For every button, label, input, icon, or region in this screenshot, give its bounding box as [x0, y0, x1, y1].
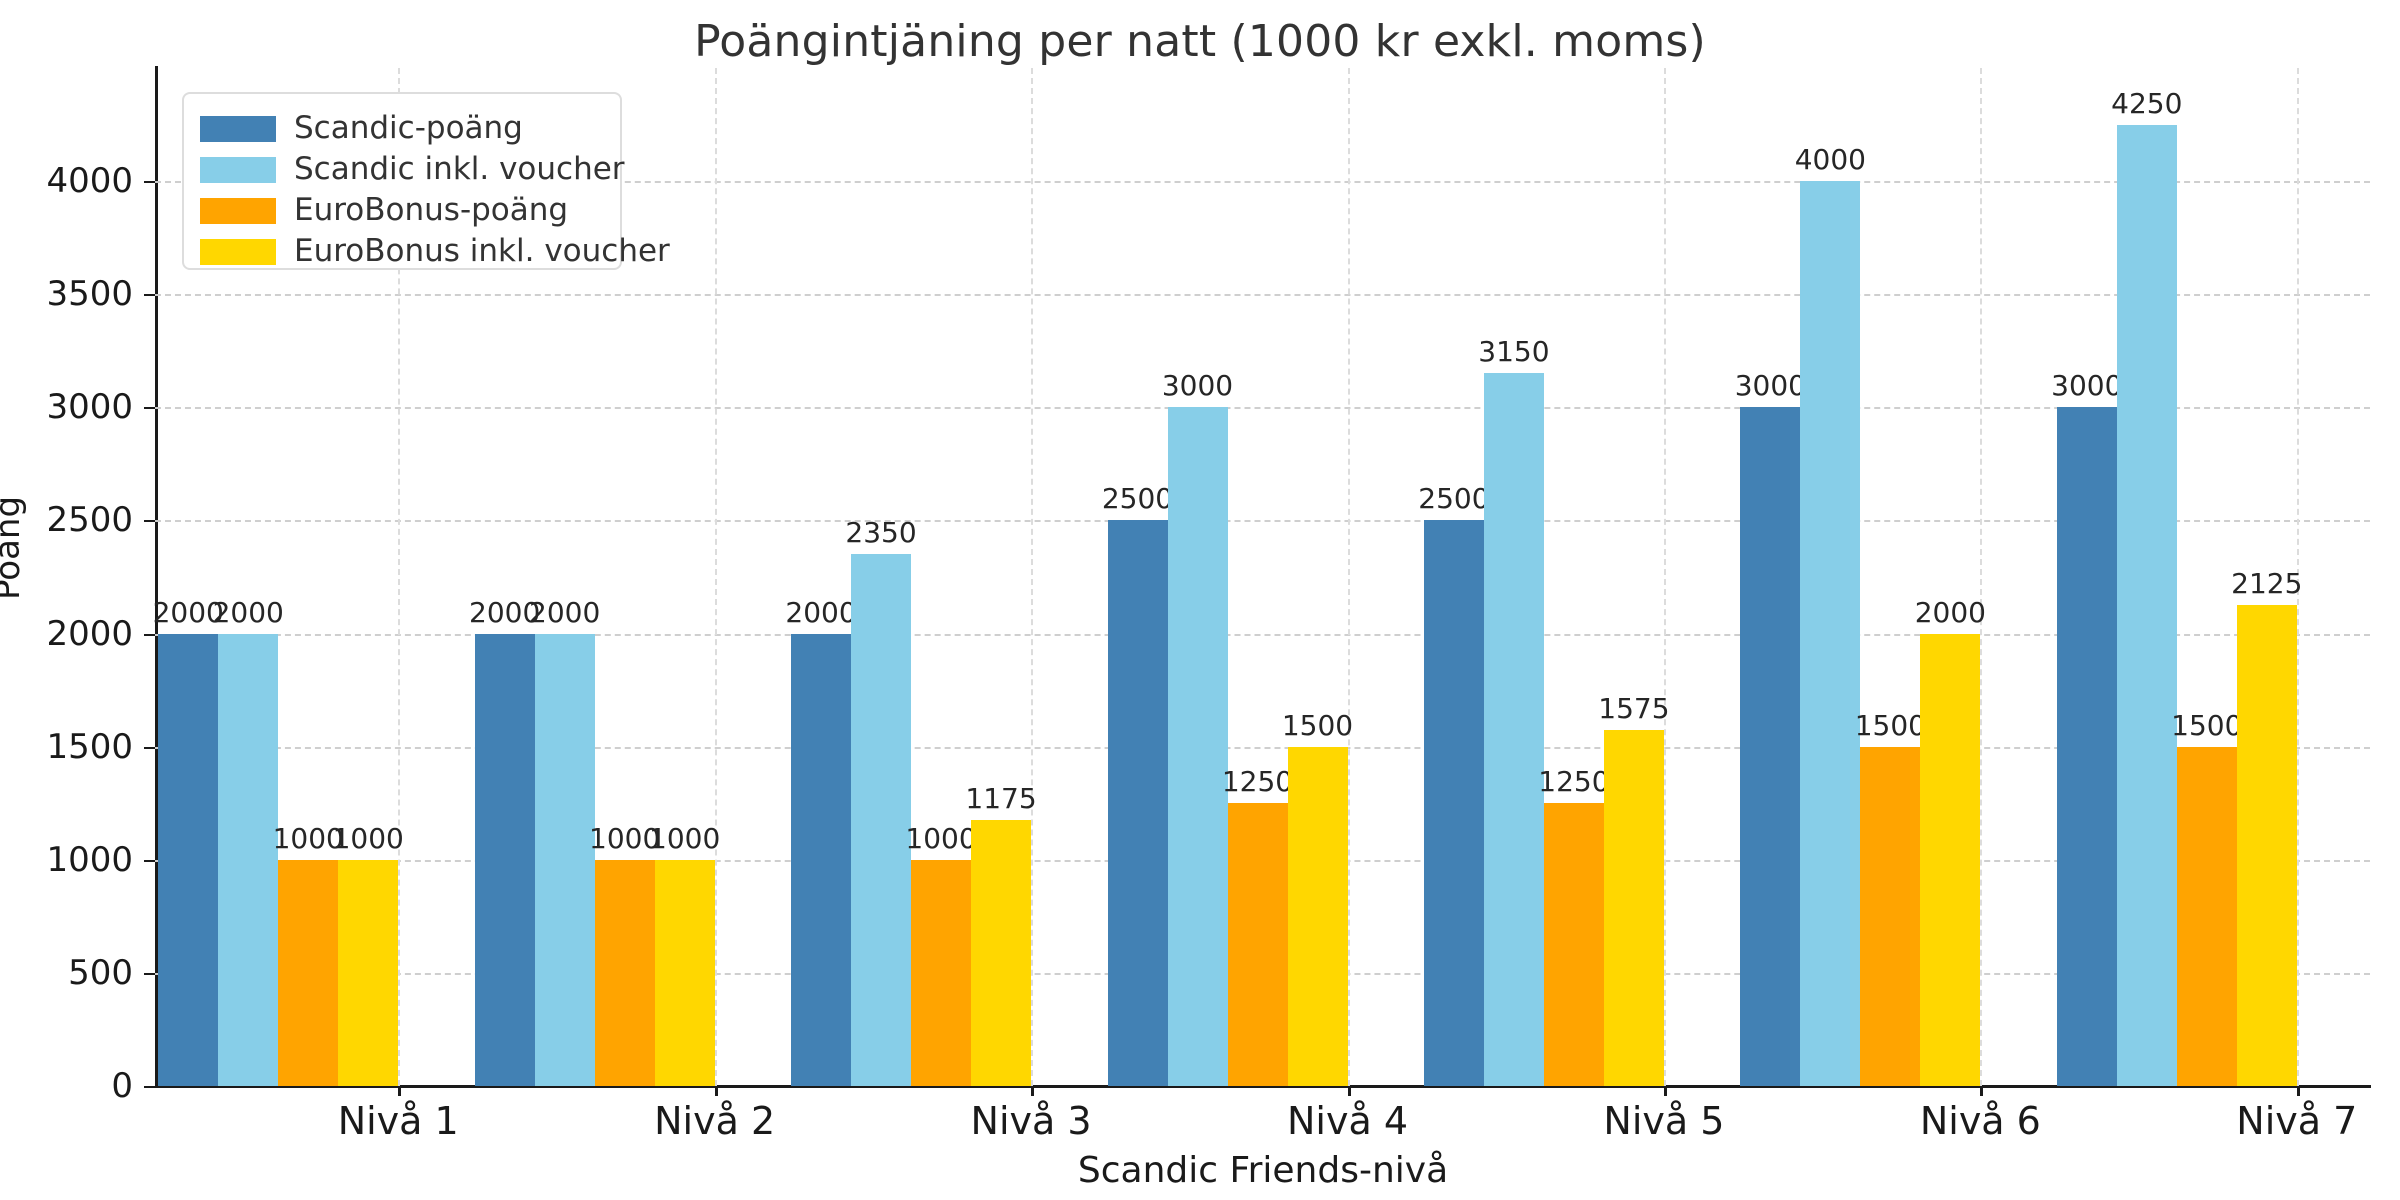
y-tick-label: 2000 [46, 614, 133, 654]
bar-value-label: 1500 [1282, 709, 1353, 742]
bar-value-label: 2000 [1915, 596, 1986, 629]
bar-value-label: 1500 [1855, 709, 1926, 742]
x-tick-label: Nivå 2 [654, 1099, 775, 1143]
bar[interactable] [1424, 520, 1484, 1086]
y-tick-label: 3500 [46, 274, 133, 314]
bar-value-label: 1250 [1222, 765, 1293, 798]
chart-legend: Scandic-poängScandic inkl. voucherEuroBo… [182, 92, 622, 270]
x-gridline [715, 68, 717, 1086]
y-tick-mark [144, 1086, 155, 1088]
y-tick-label: 4000 [46, 161, 133, 201]
bar[interactable] [1860, 747, 1920, 1086]
x-gridline [1031, 68, 1033, 1086]
bar[interactable] [2057, 407, 2117, 1086]
chart-figure: Poängintjäning per natt (1000 kr exkl. m… [0, 0, 2400, 1200]
legend-item[interactable]: EuroBonus-poäng [200, 190, 604, 231]
x-tick-mark [1980, 1086, 1983, 1096]
bar[interactable] [535, 634, 595, 1086]
legend-swatch-icon [200, 239, 276, 265]
x-tick-mark [715, 1086, 718, 1096]
bar-value-label: 2000 [213, 596, 284, 629]
bar-value-label: 3000 [2051, 369, 2122, 402]
bar[interactable] [278, 860, 338, 1086]
bar-value-label: 3000 [1162, 369, 1233, 402]
bar[interactable] [1288, 747, 1348, 1086]
bar-value-label: 1000 [333, 822, 404, 855]
x-tick-mark [1031, 1086, 1034, 1096]
bar[interactable] [1544, 803, 1604, 1086]
y-gridline [155, 407, 2370, 409]
legend-item[interactable]: Scandic-poäng [200, 108, 604, 149]
bar-value-label: 2000 [529, 596, 600, 629]
bar[interactable] [1484, 373, 1544, 1086]
x-tick-label: Nivå 6 [1920, 1099, 2041, 1143]
y-tick-mark [144, 973, 155, 975]
bar[interactable] [2177, 747, 2237, 1086]
bar[interactable] [1168, 407, 1228, 1086]
bar[interactable] [1800, 181, 1860, 1086]
bar[interactable] [2117, 125, 2177, 1086]
y-tick-mark [144, 860, 155, 862]
y-tick-label: 0 [111, 1066, 133, 1106]
x-tick-mark [2297, 1086, 2300, 1096]
x-axis-title: Scandic Friends-nivå [155, 1150, 2371, 1191]
bar-value-label: 1250 [1538, 765, 1609, 798]
bar[interactable] [1920, 634, 1980, 1086]
y-tick-mark [144, 520, 155, 522]
y-tick-label: 1000 [46, 840, 133, 880]
bar[interactable] [655, 860, 715, 1086]
x-tick-mark [398, 1086, 401, 1096]
bar[interactable] [911, 860, 971, 1086]
bar-value-label: 4250 [2111, 87, 2182, 120]
bar[interactable] [1108, 520, 1168, 1086]
bar[interactable] [2237, 605, 2297, 1086]
bar-value-label: 2125 [2231, 567, 2302, 600]
y-gridline [155, 520, 2370, 522]
bar[interactable] [851, 554, 911, 1086]
x-tick-label: Nivå 4 [1287, 1099, 1408, 1143]
legend-label: EuroBonus inkl. voucher [294, 236, 670, 267]
x-tick-label: Nivå 7 [2236, 1099, 2357, 1143]
bar-value-label: 2500 [1102, 482, 1173, 515]
bar-value-label: 1500 [2171, 709, 2242, 742]
x-gridline [1348, 68, 1350, 1086]
bar-value-label: 1175 [965, 782, 1036, 815]
bar-value-label: 3150 [1478, 335, 1549, 368]
legend-item[interactable]: EuroBonus inkl. voucher [200, 231, 604, 272]
y-tick-label: 500 [68, 953, 133, 993]
y-axis-title: Poäng [0, 496, 28, 600]
bar-value-label: 1575 [1598, 692, 1669, 725]
y-tick-mark [144, 181, 155, 183]
legend-swatch-icon [200, 116, 276, 142]
y-tick-label: 1500 [46, 727, 133, 767]
x-tick-label: Nivå 3 [971, 1099, 1092, 1143]
bar[interactable] [1604, 730, 1664, 1086]
legend-swatch-icon [200, 157, 276, 183]
x-gridline [1664, 68, 1666, 1086]
legend-swatch-icon [200, 198, 276, 224]
bar[interactable] [1228, 803, 1288, 1086]
bar-value-label: 2500 [1418, 482, 1489, 515]
bar-value-label: 2000 [785, 596, 856, 629]
bar[interactable] [791, 634, 851, 1086]
bar-value-label: 3000 [1735, 369, 1806, 402]
bar[interactable] [595, 860, 655, 1086]
legend-label: Scandic-poäng [294, 113, 523, 144]
bar[interactable] [218, 634, 278, 1086]
bar-value-label: 1000 [649, 822, 720, 855]
y-tick-mark [144, 747, 155, 749]
y-tick-label: 2500 [46, 500, 133, 540]
x-tick-label: Nivå 5 [1603, 1099, 1724, 1143]
y-gridline [155, 294, 2370, 296]
x-tick-mark [1348, 1086, 1351, 1096]
legend-label: Scandic inkl. voucher [294, 154, 625, 185]
bar[interactable] [338, 860, 398, 1086]
legend-item[interactable]: Scandic inkl. voucher [200, 149, 604, 190]
y-tick-mark [144, 294, 155, 296]
bar[interactable] [971, 820, 1031, 1086]
chart-title: Poängintjäning per natt (1000 kr exkl. m… [0, 16, 2400, 67]
y-tick-mark [144, 407, 155, 409]
bar[interactable] [1740, 407, 1800, 1086]
bar-value-label: 2350 [845, 516, 916, 549]
legend-label: EuroBonus-poäng [294, 195, 568, 226]
bar[interactable] [158, 634, 218, 1086]
x-tick-mark [1664, 1086, 1667, 1096]
bar-value-label: 1000 [905, 822, 976, 855]
bar[interactable] [475, 634, 535, 1086]
x-tick-label: Nivå 1 [338, 1099, 459, 1143]
y-tick-label: 3000 [46, 387, 133, 427]
x-gridline [1980, 68, 1982, 1086]
y-tick-mark [144, 634, 155, 636]
bar-value-label: 4000 [1795, 143, 1866, 176]
